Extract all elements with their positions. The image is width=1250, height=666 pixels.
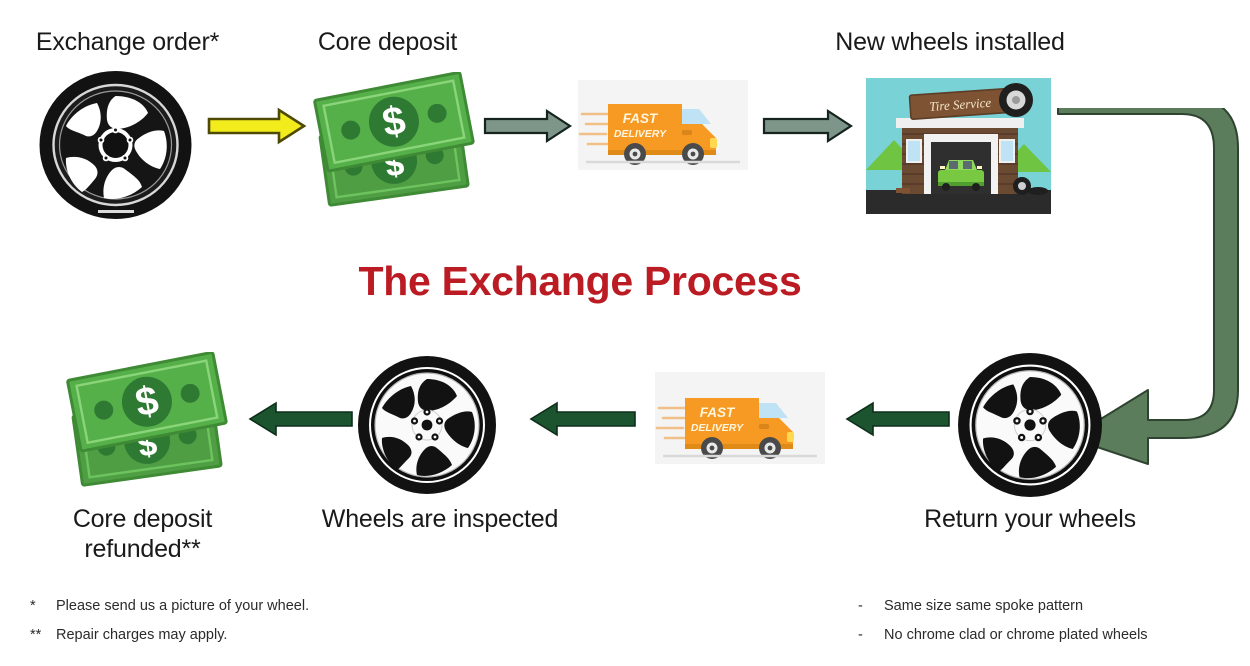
tire-service-shop-icon: Tire Service: [866, 78, 1051, 214]
note-left-1-text: Please send us a picture of your wheel.: [56, 592, 309, 621]
note-right-2-mark: -: [858, 621, 884, 650]
note-right-2: - No chrome clad or chrome plated wheels: [858, 621, 1148, 650]
wheel-dark-icon: [38, 70, 193, 220]
note-left-2-mark: **: [30, 621, 56, 650]
arrow-inspection-to-refund: [246, 400, 354, 438]
note-right-2-text: No chrome clad or chrome plated wheels: [884, 621, 1148, 650]
arrow-return-to-shipping: [843, 400, 951, 438]
truck-text-line1: FAST: [623, 111, 659, 126]
step-label-new-wheels-installed: New wheels installed: [805, 28, 1095, 58]
arrow-deposit-to-shipping: [483, 108, 573, 144]
wheel-silver-icon-inspected: [357, 355, 497, 495]
note-left-2-text: Repair charges may apply.: [56, 621, 227, 650]
note-left-1-mark: *: [30, 592, 56, 621]
arrow-order-to-deposit: [207, 107, 307, 145]
refund-label-line1: Core deposit: [73, 505, 212, 533]
notes-left: * Please send us a picture of your wheel…: [30, 592, 309, 650]
arrow-shipping-to-inspection: [527, 400, 637, 438]
step-label-exchange-order: Exchange order*: [20, 28, 235, 58]
wheel-silver-icon-return: [957, 352, 1103, 498]
note-right-1-text: Same size same spoke pattern: [884, 592, 1083, 621]
note-right-1-mark: -: [858, 592, 884, 621]
notes-right: - Same size same spoke pattern - No chro…: [858, 592, 1148, 650]
delivery-truck-icon-return: FAST DELIVERY: [655, 372, 825, 464]
note-right-1: - Same size same spoke pattern: [858, 592, 1148, 621]
page-title: The Exchange Process: [0, 258, 1160, 305]
note-left-2: ** Repair charges may apply.: [30, 621, 309, 650]
exchange-process-diagram: Exchange order* Core deposit New wheels …: [0, 0, 1250, 666]
step-label-wheels-inspected: Wheels are inspected: [295, 505, 585, 535]
money-icon-core-deposit: $ $: [305, 72, 480, 207]
note-left-1: * Please send us a picture of your wheel…: [30, 592, 309, 621]
truck-text-line2: DELIVERY: [614, 128, 667, 140]
step-label-core-deposit: Core deposit: [290, 28, 485, 58]
truck-text-line2: DELIVERY: [691, 422, 744, 434]
step-label-core-deposit-refunded: Core deposit refunded**: [35, 505, 250, 564]
refund-label-line2: refunded**: [84, 535, 200, 563]
truck-text-line1: FAST: [700, 405, 736, 420]
delivery-truck-icon-outbound: FAST DELIVERY: [578, 80, 748, 170]
step-label-return-your-wheels: Return your wheels: [890, 505, 1170, 535]
money-icon-refund: $ $: [58, 352, 233, 487]
arrow-shipping-to-shop: [762, 108, 854, 144]
